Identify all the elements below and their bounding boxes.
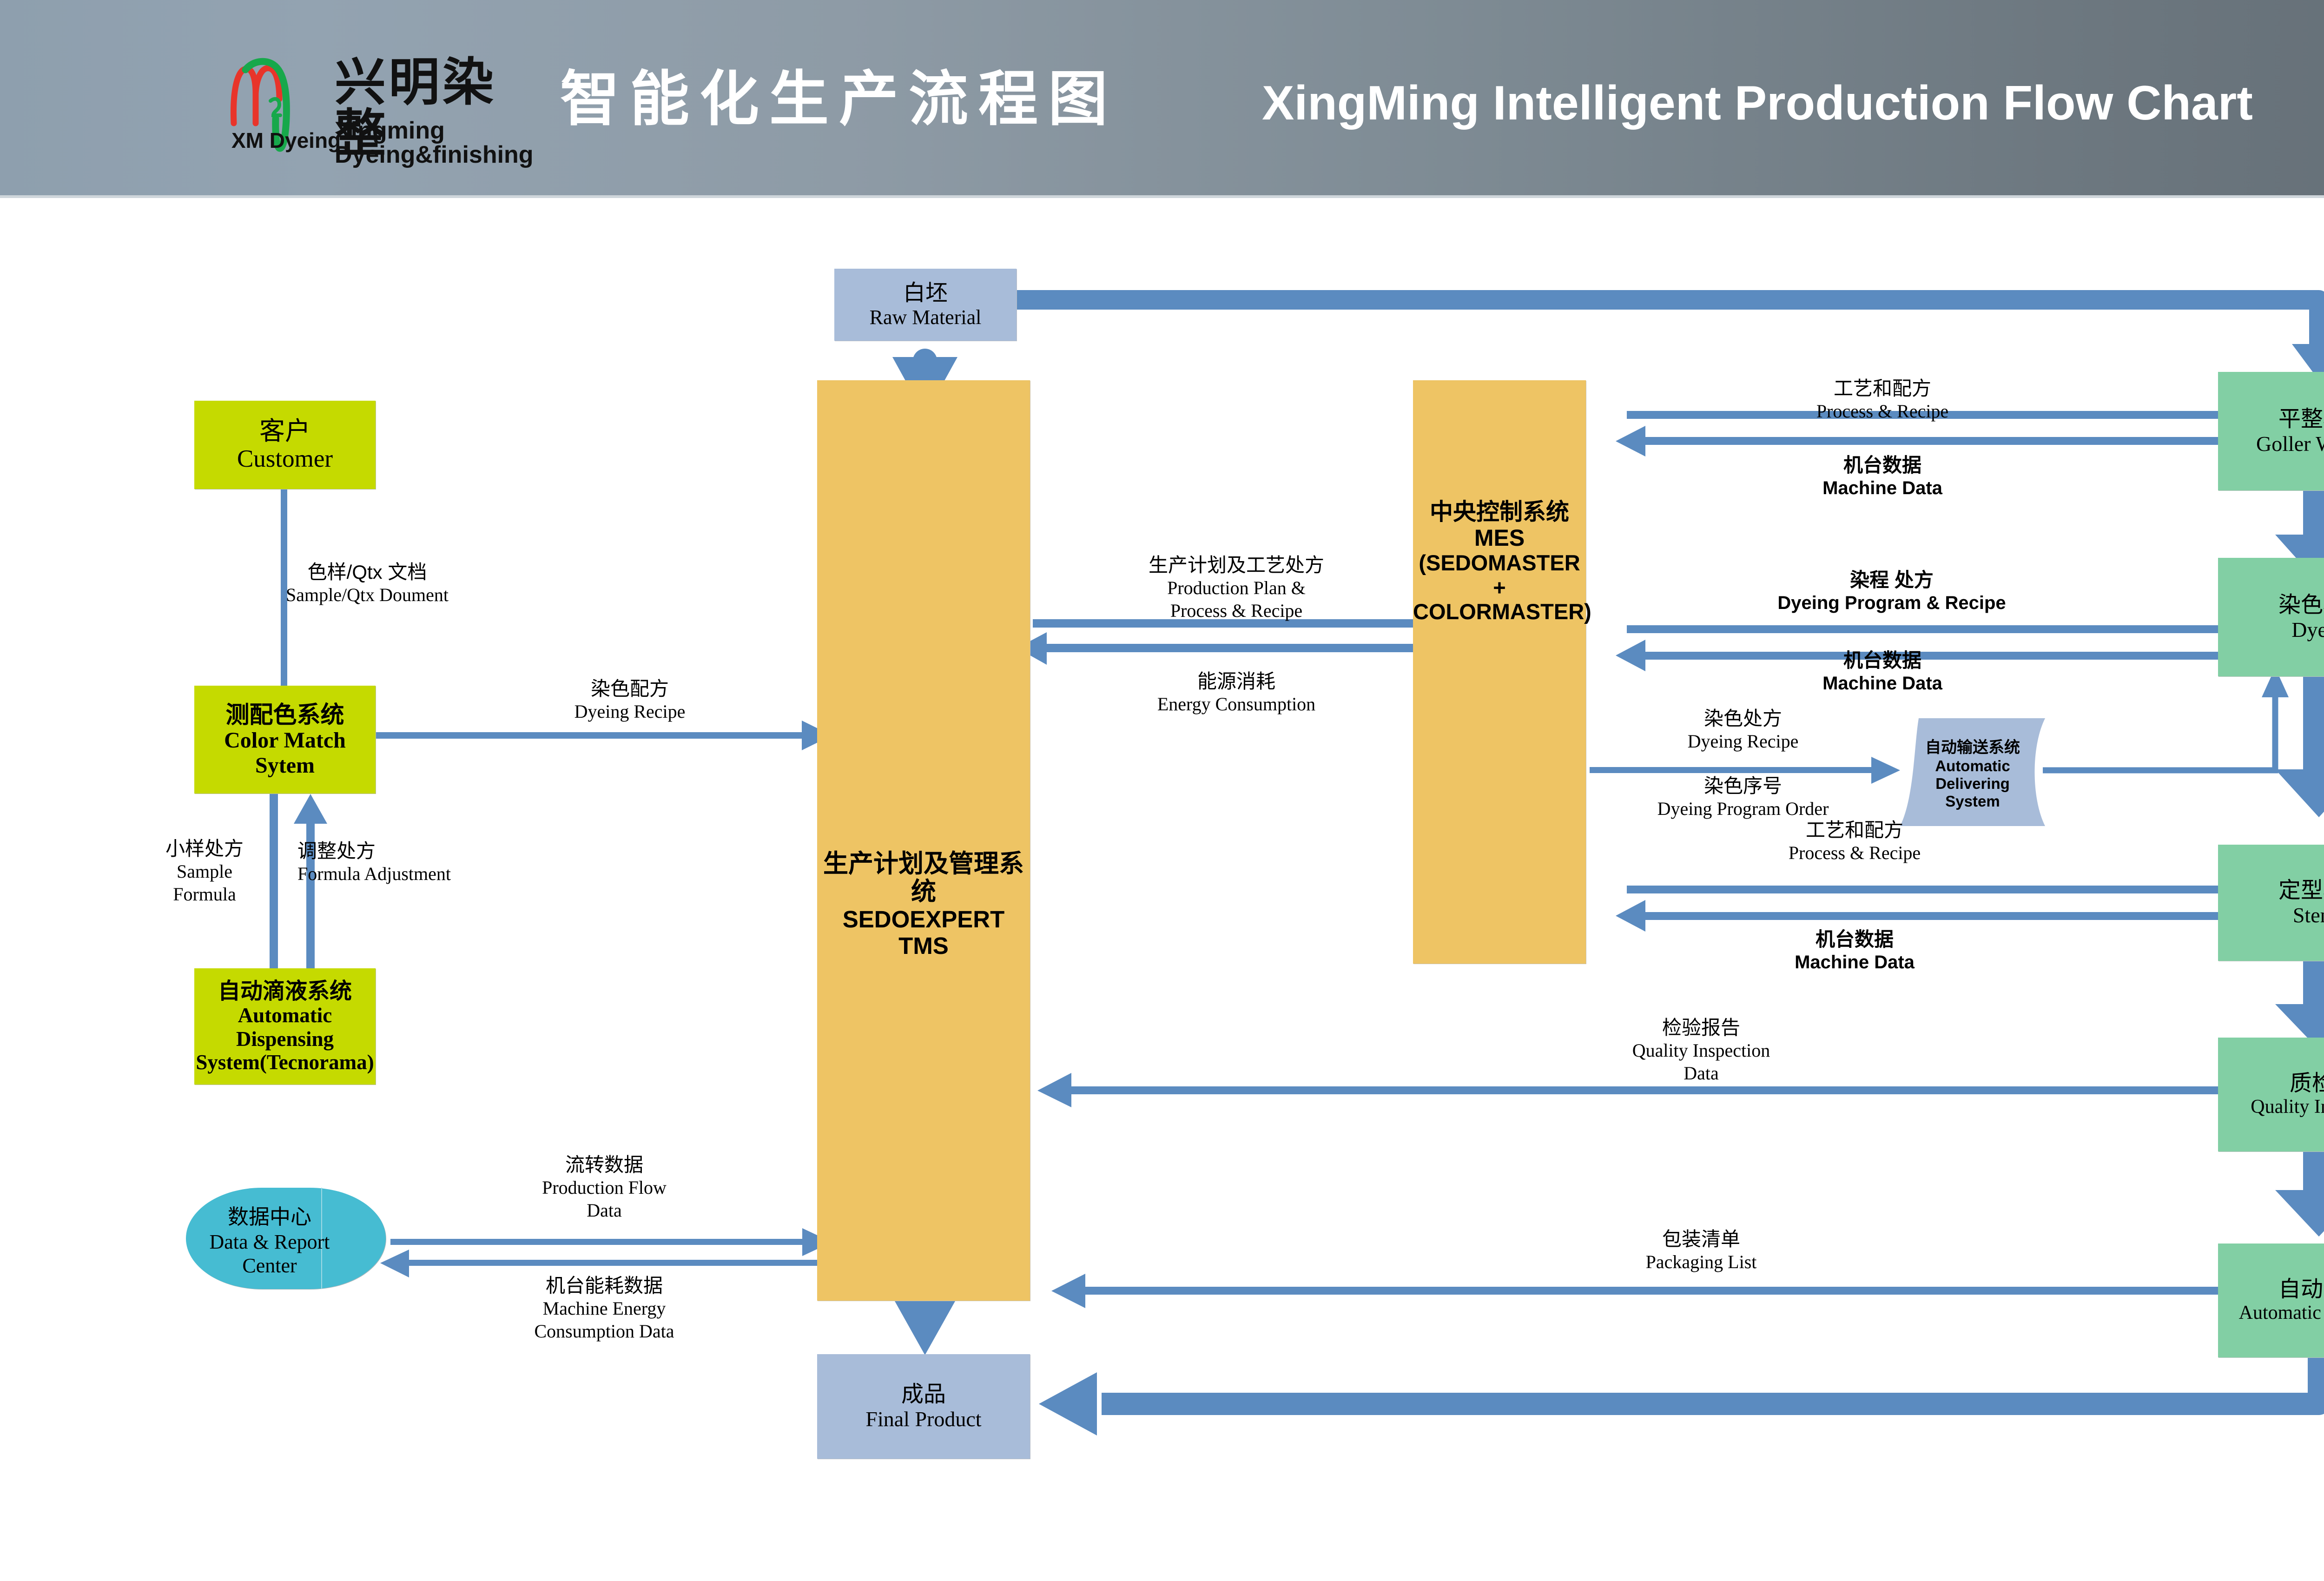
label-process-recipe-top-cn: 工艺和配方 <box>1720 377 2045 400</box>
node-dispensing-en1: Automatic <box>238 1004 332 1027</box>
label-sample-qtx-en: Sample/Qtx Doument <box>260 584 474 607</box>
label-dyeing-program-cn: 染程 处方 <box>1701 568 2082 592</box>
label-sample-formula-cn: 小样处方 <box>139 837 270 860</box>
label-machine-data-top: 机台数据 Machine Data <box>1720 453 2045 500</box>
node-customer-en: Customer <box>237 445 333 473</box>
label-production-flow-data: 流转数据 Production Flow Data <box>465 1153 744 1222</box>
arrow-stenter-to-mes <box>1616 900 2287 932</box>
label-process-recipe-top: 工艺和配方 Process & Recipe <box>1720 377 2045 423</box>
label-machine-data-top-cn: 机台数据 <box>1720 453 2045 477</box>
node-quality-cn: 质检部 <box>2290 1071 2324 1096</box>
label-energy-consumption-cn: 能源消耗 <box>1074 669 1399 693</box>
label-dyeing-prog-order-cn: 染色序号 <box>1580 774 1906 798</box>
label-process-recipe-top-en: Process & Recipe <box>1720 400 2045 423</box>
label-process-recipe-bot-cn: 工艺和配方 <box>1692 818 2017 842</box>
node-quality-inspection[interactable]: 质检部 Quality Inspection <box>2218 1038 2324 1151</box>
label-machine-data-mid-cn: 机台数据 <box>1720 648 2045 672</box>
label-dyeing-prog-order-en: Dyeing Program Order <box>1580 798 1906 820</box>
arrow-stenter-to-quality <box>2275 949 2324 1050</box>
node-dyeing-machine[interactable]: 染色机台 Dyeing <box>2218 558 2324 676</box>
node-packaging-en: Automatic Packaging <box>2239 1302 2324 1324</box>
label-energy-consumption-en: Energy Consumption <box>1074 693 1399 716</box>
label-dyeing-recipe-ads-cn: 染色处方 <box>1599 707 1887 730</box>
node-packaging-cn: 自动包装 <box>2278 1277 2324 1302</box>
node-dispensing-en3: System(Tecnorama) <box>196 1051 374 1074</box>
node-goller-washing[interactable]: 平整机台 Goller Washing <box>2218 372 2324 490</box>
node-dyeing-cn: 染色机台 <box>2278 593 2324 618</box>
node-datacenter-en1: Data & Report <box>209 1230 330 1254</box>
label-quality-inspection-data: 检验报告 Quality Inspection Data <box>1538 1016 1864 1085</box>
node-rawmaterial-cn: 白坯 <box>903 281 948 306</box>
arrow-datacenter-to-tms <box>390 1228 832 1256</box>
label-machine-data-mid-en: Machine Data <box>1720 672 2045 695</box>
label-machine-energy-cn: 机台能耗数据 <box>465 1274 744 1297</box>
node-mes-en1: MES <box>1413 525 1586 551</box>
label-dyeing-recipe-ads-en: Dyeing Recipe <box>1599 730 1887 753</box>
node-data-report-center[interactable]: 数据中心 Data & Report Center <box>186 1188 386 1289</box>
node-dispensing-en2: Dispensing <box>236 1027 334 1051</box>
node-delivering-en2: Delivering <box>1935 775 2010 793</box>
node-rawmaterial-en: Raw Material <box>870 306 982 329</box>
arrow-colormatch-to-tms <box>374 721 832 750</box>
node-color-match-cn: 测配色系统 <box>225 701 344 728</box>
label-sample-qtx-document: 色样/Qtx 文档 Sample/Qtx Doument <box>260 560 474 607</box>
node-stenter[interactable]: 定型机台 Stenter <box>2218 845 2324 961</box>
label-quality-report-en2: Data <box>1538 1062 1864 1085</box>
label-formula-adjust-en: Formula Adjustment <box>297 863 511 886</box>
label-machine-data-bot-cn: 机台数据 <box>1692 927 2017 951</box>
label-sample-formula-en1: Sample <box>139 860 270 883</box>
label-energy-consumption: 能源消耗 Energy Consumption <box>1074 669 1399 716</box>
label-dyeing-recipe-to-delivering: 染色处方 Dyeing Recipe <box>1599 707 1887 753</box>
node-mes-en2: (SEDOMASTER + <box>1413 551 1586 600</box>
label-sample-formula: 小样处方 Sample Formula <box>139 837 270 906</box>
label-production-plan-en2: Process & Recipe <box>1074 600 1399 622</box>
label-machine-energy-en2: Consumption Data <box>465 1320 744 1343</box>
node-finalproduct-cn: 成品 <box>901 1382 946 1407</box>
node-central-control-system-mes[interactable]: 中央控制系统 MES (SEDOMASTER + COLORMASTER) <box>1413 380 1586 964</box>
node-automatic-packaging[interactable]: 自动包装 Automatic Packaging <box>2218 1244 2324 1357</box>
label-machine-data-bottom: 机台数据 Machine Data <box>1692 927 2017 974</box>
node-finalproduct-en: Final Product <box>865 1407 981 1431</box>
node-delivering-cn: 自动输送系统 <box>1925 734 2020 757</box>
label-formula-adjust-cn: 调整处方 <box>297 839 511 863</box>
label-production-flow-en2: Data <box>465 1199 744 1222</box>
arrow-packaging-to-tms <box>1051 1274 2219 1308</box>
node-mes-en3: COLORMASTER) <box>1413 600 1586 624</box>
label-process-recipe-bot-en: Process & Recipe <box>1692 842 2017 865</box>
node-final-product[interactable]: 成品 Final Product <box>817 1354 1030 1459</box>
node-raw-material[interactable]: 白坯 Raw Material <box>834 269 1017 341</box>
node-goller-en: Goller Washing <box>2256 432 2324 456</box>
node-customer-cn: 客户 <box>259 417 310 446</box>
node-datacenter-cn: 数据中心 <box>228 1200 311 1230</box>
label-machine-energy-consumption-data: 机台能耗数据 Machine Energy Consumption Data <box>465 1274 744 1343</box>
node-goller-cn: 平整机台 <box>2278 407 2324 432</box>
node-quality-en: Quality Inspection <box>2251 1096 2324 1118</box>
node-delivering-en1: Automatic <box>1935 757 2010 775</box>
label-quality-report-cn: 检验报告 <box>1538 1016 1864 1039</box>
label-dyeing-program-recipe: 染程 处方 Dyeing Program & Recipe <box>1701 568 2082 615</box>
node-mes-cn: 中央控制系统 <box>1413 499 1586 525</box>
arrow-mes-to-tms <box>1017 632 1421 665</box>
label-sample-qtx-cn: 色样/Qtx 文档 <box>260 560 474 584</box>
arrow-tms-to-datacenter <box>380 1250 818 1277</box>
node-color-match-system[interactable]: 测配色系统 Color Match Sytem <box>194 686 376 794</box>
arrow-packaging-to-finalproduct <box>1039 1339 2319 1435</box>
flowchart-canvas: XM Dyeing 兴明染整 Xingming Dyeing&finishing… <box>0 0 2324 1581</box>
label-production-plan-cn: 生产计划及工艺处方 <box>1074 553 1399 577</box>
arrow-delivering-to-dyeing <box>2043 668 2289 770</box>
node-automatic-dispensing-system[interactable]: 自动滴液系统 Automatic Dispensing System(Tecno… <box>194 968 376 1085</box>
label-dyeing-recipe-to-tms: 染色配方 Dyeing Recipe <box>490 677 769 723</box>
node-stenter-cn: 定型机台 <box>2278 878 2324 903</box>
node-datacenter-en2: Center <box>242 1254 297 1277</box>
node-stenter-en: Stenter <box>2293 903 2324 927</box>
label-production-flow-en1: Production Flow <box>465 1177 744 1199</box>
node-tms-en: SEDOEXPERT TMS <box>817 906 1030 959</box>
label-process-recipe-bottom: 工艺和配方 Process & Recipe <box>1692 818 2017 865</box>
label-quality-report-en1: Quality Inspection <box>1538 1039 1864 1062</box>
node-production-plan-management-system[interactable]: 生产计划及管理系统 SEDOEXPERT TMS <box>817 380 1030 1301</box>
label-packaging-list-cn: 包装清单 <box>1538 1227 1864 1251</box>
node-dyeing-en: Dyeing <box>2291 618 2324 642</box>
label-machine-data-top-en: Machine Data <box>1720 477 2045 500</box>
label-production-plan-process-recipe: 生产计划及工艺处方 Production Plan & Process & Re… <box>1074 553 1399 622</box>
label-dyeing-program-en: Dyeing Program & Recipe <box>1701 592 2082 615</box>
label-packaging-list-en: Packaging List <box>1538 1251 1864 1274</box>
node-delivering-en3: System <box>1945 793 2000 810</box>
arrow-rawmaterial-to-goller <box>1013 300 2324 380</box>
label-packaging-list: 包装清单 Packaging List <box>1538 1227 1864 1274</box>
arrow-goller-to-mes <box>1616 426 2287 456</box>
label-production-flow-cn: 流转数据 <box>465 1153 744 1177</box>
label-dyeing-recipe-tms-en: Dyeing Recipe <box>490 701 769 723</box>
label-formula-adjustment: 调整处方 Formula Adjustment <box>297 839 511 886</box>
node-dispensing-cn: 自动滴液系统 <box>218 979 352 1004</box>
label-dyeing-recipe-tms-cn: 染色配方 <box>490 677 769 701</box>
label-dyeing-program-order: 染色序号 Dyeing Program Order <box>1580 774 1906 820</box>
node-customer[interactable]: 客户 Customer <box>194 401 376 489</box>
node-automatic-delivering-system[interactable]: 自动输送系统 Automatic Delivering System <box>1900 718 2045 826</box>
label-machine-data-bot-en: Machine Data <box>1692 951 2017 974</box>
label-machine-data-mid: 机台数据 Machine Data <box>1720 648 2045 695</box>
label-machine-energy-en1: Machine Energy <box>465 1297 744 1320</box>
node-tms-cn: 生产计划及管理系统 <box>817 850 1030 906</box>
label-production-plan-en1: Production Plan & <box>1074 577 1399 600</box>
label-sample-formula-en2: Formula <box>139 883 270 906</box>
node-color-match-en: Color Match Sytem <box>194 728 376 778</box>
